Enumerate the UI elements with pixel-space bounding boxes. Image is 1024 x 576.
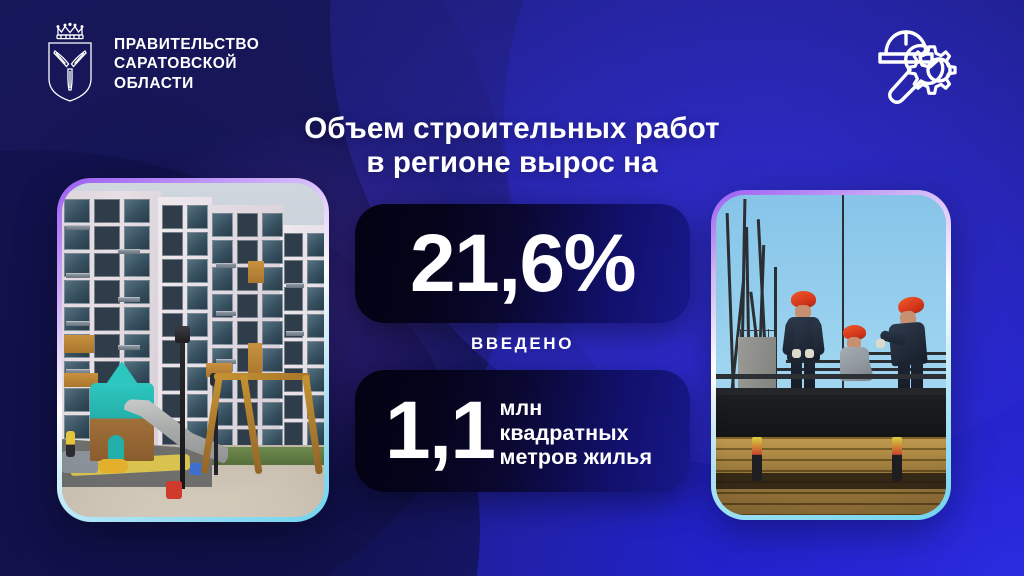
saratov-coat-of-arms-icon (40, 22, 100, 106)
balcony (216, 263, 236, 268)
growth-percent-card: 21,6% (355, 204, 690, 323)
photo-construction-workers (711, 190, 951, 520)
housing-area-unit: млн квадратных метров жилья (500, 392, 653, 471)
formwork-clamp (892, 437, 902, 481)
balcony (66, 273, 90, 278)
balcony (66, 225, 90, 230)
facade-accent (64, 335, 94, 353)
balcony (216, 311, 236, 316)
logo-text: ПРАВИТЕЛЬСТВО САРАТОВСКОЙ ОБЛАСТИ (114, 35, 259, 94)
red-object (166, 481, 182, 499)
construction-worker (780, 291, 826, 403)
balcony (286, 283, 304, 288)
page-title: Объем строительных работ в регионе вырос… (256, 112, 768, 180)
growth-percent-value: 21,6% (410, 226, 635, 301)
lamp-post (180, 339, 185, 489)
government-logo: ПРАВИТЕЛЬСТВО САРАТОВСКОЙ ОБЛАСТИ (40, 22, 259, 106)
timber-shadow (716, 473, 946, 489)
introduced-label: ВВЕДЕНО (355, 334, 690, 354)
facade-accent (248, 261, 264, 283)
swing-set (210, 371, 314, 475)
construction-worker (836, 325, 874, 397)
scaffold-deck (716, 395, 946, 437)
formwork-clamp (752, 437, 762, 481)
photo-right-content (716, 195, 946, 515)
housing-area-value: 1,1 (385, 393, 495, 468)
housing-area-card: 1,1 млн квадратных метров жилья (355, 370, 690, 492)
photo-left-content (62, 183, 324, 517)
scaffold-rail (716, 374, 946, 379)
balcony (118, 345, 140, 350)
playhouse (90, 383, 154, 461)
gear-wrench-hardhat-icon (870, 20, 966, 108)
scaffold-rail (716, 388, 946, 395)
balcony (118, 297, 140, 302)
balcony (286, 331, 304, 336)
spring-rider-toy (98, 459, 128, 473)
balcony (118, 249, 140, 254)
balcony (66, 321, 90, 326)
photo-residential-playground (57, 178, 329, 522)
infographic-canvas: ПРАВИТЕЛЬСТВО САРАТОВСКОЙ ОБЛАСТИ Объем … (0, 0, 1024, 576)
person (66, 431, 75, 457)
